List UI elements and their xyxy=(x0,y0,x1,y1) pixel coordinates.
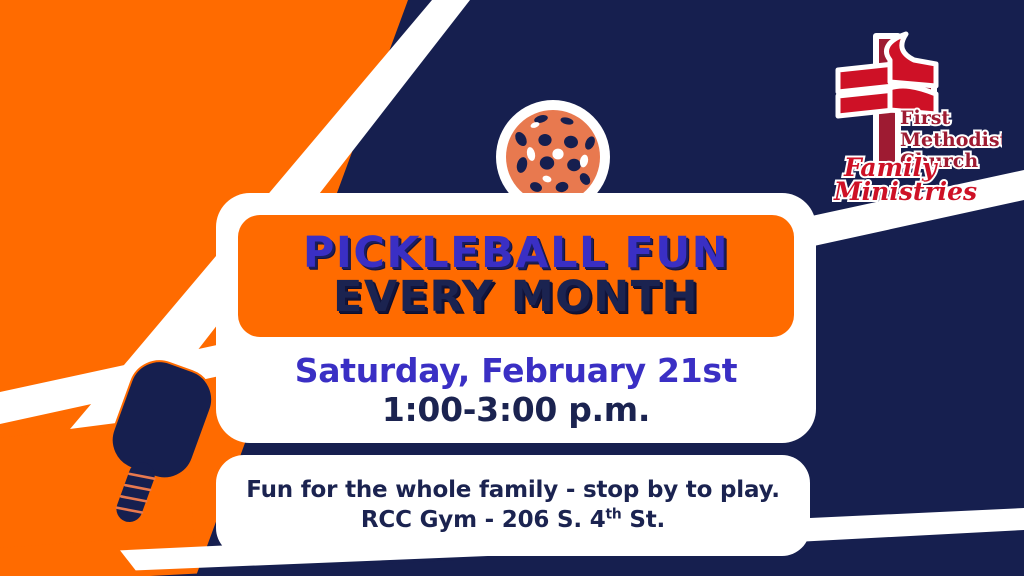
location-ordinal-suffix: th xyxy=(606,506,622,522)
event-details-card: PICKLEBALL FUN EVERY MONTH Saturday, Feb… xyxy=(216,193,816,443)
pickleball-paddle-graphic xyxy=(82,352,222,542)
methodist-cross-and-flame-icon: First Methodist Church Family Ministries xyxy=(832,24,1002,204)
event-invitation-text: Fun for the whole family - stop by to pl… xyxy=(246,476,780,506)
event-title-line2: EVERY MONTH xyxy=(333,276,699,320)
event-title-band: PICKLEBALL FUN EVERY MONTH xyxy=(238,215,794,337)
event-time: 1:00-3:00 p.m. xyxy=(238,392,794,429)
location-suffix: St. xyxy=(622,507,666,533)
logo-ministry-line2: Ministries xyxy=(833,177,977,204)
church-logo: First Methodist Church Family Ministries xyxy=(832,24,1002,204)
logo-church-line2: Methodist xyxy=(900,129,1002,151)
event-date: Saturday, February 21st xyxy=(238,353,794,390)
logo-church-line1: First xyxy=(900,107,950,129)
event-location-card: Fun for the whole family - stop by to pl… xyxy=(216,455,810,556)
pickleball-event-flyer: First Methodist Church Family Ministries… xyxy=(0,0,1024,576)
event-location-text: RCC Gym - 206 S. 4th St. xyxy=(361,506,665,536)
location-prefix: RCC Gym - 206 S. 4 xyxy=(361,507,606,533)
event-title-line1: PICKLEBALL FUN xyxy=(303,232,729,276)
pickleball-paddle-icon xyxy=(82,352,222,542)
